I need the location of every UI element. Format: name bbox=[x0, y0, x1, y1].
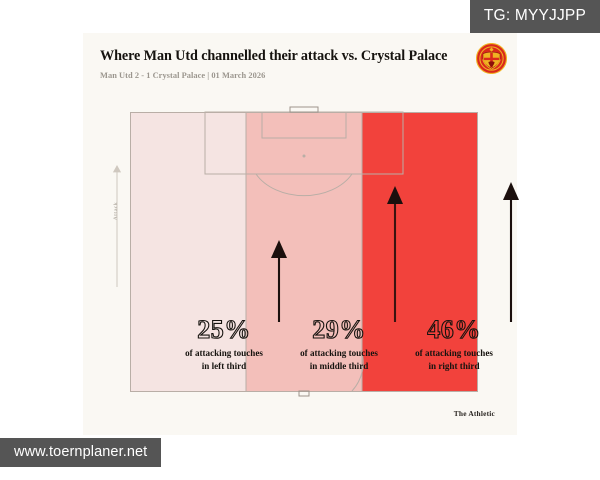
tg-watermark-badge: TG: MYYJJPP bbox=[470, 0, 600, 33]
attack-direction-axis: Attack bbox=[110, 164, 124, 289]
stat-percent-right: 46% bbox=[384, 317, 524, 343]
stat-caption-right-1: of attacking touches bbox=[384, 347, 524, 360]
stat-block-right: 46% of attacking touches in right third bbox=[384, 317, 524, 373]
stat-caption-right-2: in right third bbox=[384, 360, 524, 373]
man-utd-crest-icon bbox=[476, 43, 507, 74]
site-watermark-badge: www.toernplaner.net bbox=[0, 438, 161, 468]
attack-arrow-right bbox=[502, 182, 520, 322]
attack-axis-label: Attack bbox=[113, 179, 119, 243]
graphic-card: Where Man Utd channelled their attack vs… bbox=[83, 33, 517, 435]
the-athletic-brand: The Athletic bbox=[454, 409, 495, 418]
page-title: Where Man Utd channelled their attack vs… bbox=[100, 49, 503, 65]
match-subtitle: Man Utd 2 - 1 Crystal Palace | 01 March … bbox=[100, 71, 503, 80]
attack-arrow-middle bbox=[386, 186, 404, 322]
card-header: Where Man Utd channelled their attack vs… bbox=[100, 49, 503, 97]
screenshot-root: Where Man Utd channelled their attack vs… bbox=[0, 0, 600, 480]
attack-arrow-left bbox=[270, 240, 288, 322]
